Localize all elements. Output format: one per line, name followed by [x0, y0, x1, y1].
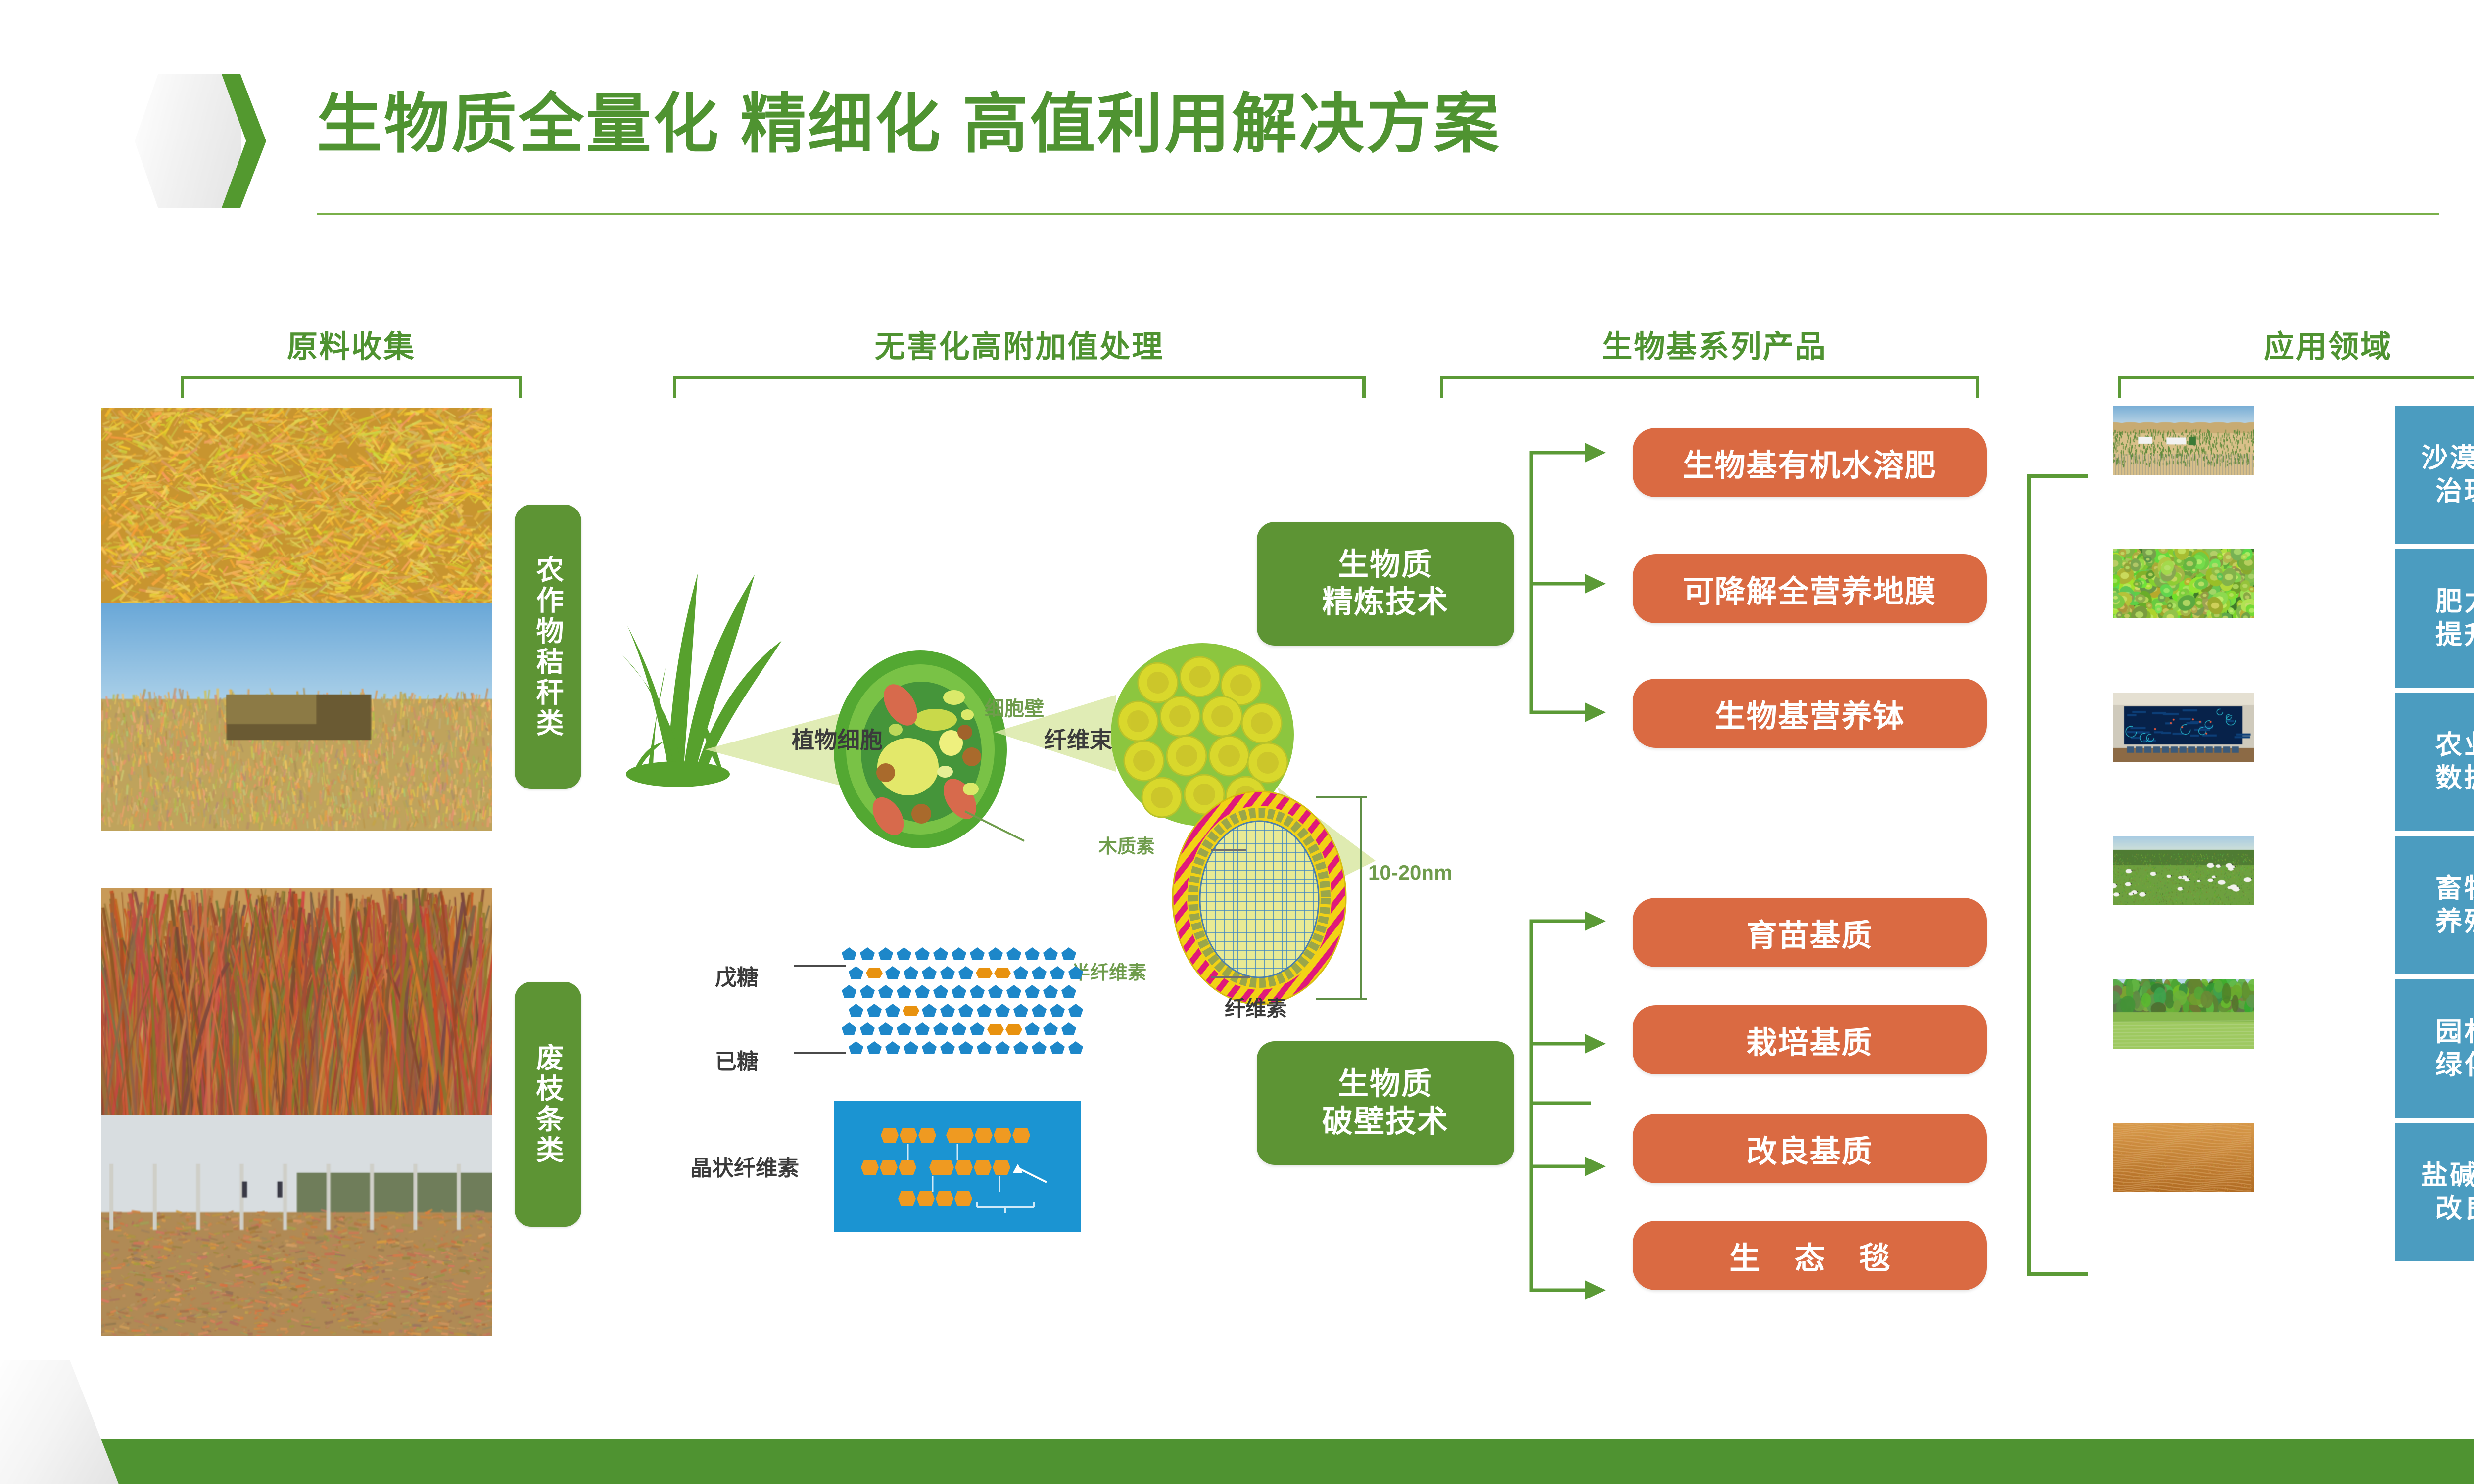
application-row-landscaping[interactable]: 园林 绿化 — [2113, 979, 2474, 1118]
section-bracket-products — [1440, 376, 1979, 398]
section-header-products: 生物基系列产品 — [1435, 322, 1994, 366]
footer-green-bar — [0, 1439, 2474, 1484]
section-header-process: 无害化高附加值处理 — [673, 322, 1366, 366]
app-cap-4-l1: 园林 — [2435, 1016, 2474, 1049]
section-bracket-raw — [181, 376, 522, 398]
application-photo-cabbage — [2113, 549, 2395, 688]
label-pentose: 戊糖 — [715, 960, 759, 991]
connector-cellwall-to-products — [1512, 890, 1640, 1326]
app-cap-0-l2: 治理 — [2435, 475, 2474, 509]
application-photo-control-room — [2113, 693, 2395, 831]
application-row-agri-data[interactable]: 农业 数据 — [2113, 693, 2474, 831]
application-photo-park — [2113, 979, 2395, 1118]
application-photo-saline-soil — [2113, 1123, 2395, 1261]
application-photo-sheep — [2113, 836, 2395, 974]
label-scale-10-20nm: 10-20nm — [1368, 861, 1452, 884]
raw-category-label-crop-straw: 农作物秸秆类 — [515, 505, 581, 789]
tech-cellwall-line2: 破壁技术 — [1322, 1103, 1449, 1141]
application-caption-agri-data: 农业 数据 — [2395, 693, 2474, 831]
application-caption-saline-alkali: 盐碱地 改良 — [2395, 1123, 2474, 1261]
product-box-nutrition-pot[interactable]: 生物基营养钵 — [1633, 679, 1987, 748]
application-caption-desert: 沙漠化 治理 — [2395, 406, 2474, 544]
application-caption-landscaping: 园林 绿化 — [2395, 979, 2474, 1118]
app-cap-3-l2: 养殖 — [2435, 905, 2474, 939]
product-box-biodegradable-mulch-film[interactable]: 可降解全营养地膜 — [1633, 554, 1987, 623]
label-plant-cell: 植物细胞 — [792, 722, 883, 755]
section-header-apps: 应用领域 — [2113, 322, 2474, 366]
tech-refining-line1: 生物质 — [1338, 546, 1433, 584]
section-header-raw: 原料收集 — [178, 322, 524, 366]
label-fiber-bundle: 纤维束 — [1044, 722, 1112, 755]
section-bracket-process — [673, 376, 1366, 398]
connector-refining-to-products — [1512, 423, 1640, 740]
application-photo-desert — [2113, 406, 2395, 544]
page-title: 生物质全量化 精细化 高值利用解决方案 — [317, 87, 1501, 162]
raw-photo-branches — [101, 888, 492, 1115]
app-cap-2-l1: 农业 — [2435, 729, 2474, 762]
app-cap-1-l1: 肥力 — [2435, 585, 2474, 619]
tech-box-refining[interactable]: 生物质 精炼技术 — [1257, 522, 1514, 646]
hexagon-logo-decoration — [135, 74, 258, 208]
raw-category-label-waste-branches: 废枝条类 — [515, 982, 581, 1227]
crystalline-cellulose-diagram — [834, 1101, 1081, 1232]
application-caption-fertility: 肥力 提升 — [2395, 549, 2474, 688]
label-lignin: 木质素 — [1098, 831, 1155, 858]
application-row-fertility[interactable]: 肥力 提升 — [2113, 549, 2474, 688]
app-cap-5-l1: 盐碱地 — [2421, 1159, 2474, 1193]
label-crystalline-cellulose: 晶状纤维素 — [690, 1150, 799, 1182]
application-row-desert-control[interactable]: 沙漠化 治理 — [2113, 406, 2474, 544]
app-cap-3-l1: 畜牧 — [2435, 872, 2474, 906]
sugar-leader-lines — [792, 955, 851, 1068]
product-box-water-soluble-fertilizer[interactable]: 生物基有机水溶肥 — [1633, 428, 1987, 497]
app-cap-4-l2: 绿化 — [2435, 1049, 2474, 1082]
tech-box-cellwall-breaking[interactable]: 生物质 破壁技术 — [1257, 1041, 1514, 1165]
product-box-improvement-substrate[interactable]: 改良基质 — [1633, 1114, 1987, 1183]
application-caption-livestock: 畜牧 养殖 — [2395, 836, 2474, 974]
label-cell-wall: 细胞壁 — [985, 693, 1044, 721]
label-hexose: 已糖 — [715, 1044, 759, 1075]
app-cap-2-l2: 数据 — [2435, 762, 2474, 795]
raw-photo-corn-stover — [101, 408, 492, 603]
hexagon-body — [135, 74, 241, 208]
app-cap-0-l1: 沙漠化 — [2421, 442, 2474, 475]
product-box-eco-blanket[interactable]: 生 态 毯 — [1633, 1221, 1987, 1290]
product-box-seedling-substrate[interactable]: 育苗基质 — [1633, 898, 1987, 967]
raw-photo-orchard-pruning — [101, 1115, 492, 1336]
microfibril-cross-section-diagram — [1153, 777, 1410, 1014]
tech-refining-line2: 精炼技术 — [1322, 584, 1449, 621]
section-bracket-apps — [2118, 376, 2474, 398]
product-box-cultivation-substrate[interactable]: 栽培基质 — [1633, 1005, 1987, 1074]
label-cellulose: 纤维素 — [1225, 992, 1287, 1022]
app-cap-5-l2: 改良 — [2435, 1192, 2474, 1226]
sugar-chain-diagram — [836, 942, 1094, 1071]
connector-products-to-applications — [2009, 472, 2093, 1279]
application-row-livestock[interactable]: 畜牧 养殖 — [2113, 836, 2474, 974]
app-cap-1-l2: 提升 — [2435, 618, 2474, 652]
footer-wedge-decoration — [0, 1360, 119, 1484]
raw-photo-straw-bale — [101, 603, 492, 831]
application-row-saline-alkali[interactable]: 盐碱地 改良 — [2113, 1123, 2474, 1261]
tech-cellwall-line1: 生物质 — [1338, 1066, 1433, 1103]
title-underline-rule — [317, 213, 2439, 215]
